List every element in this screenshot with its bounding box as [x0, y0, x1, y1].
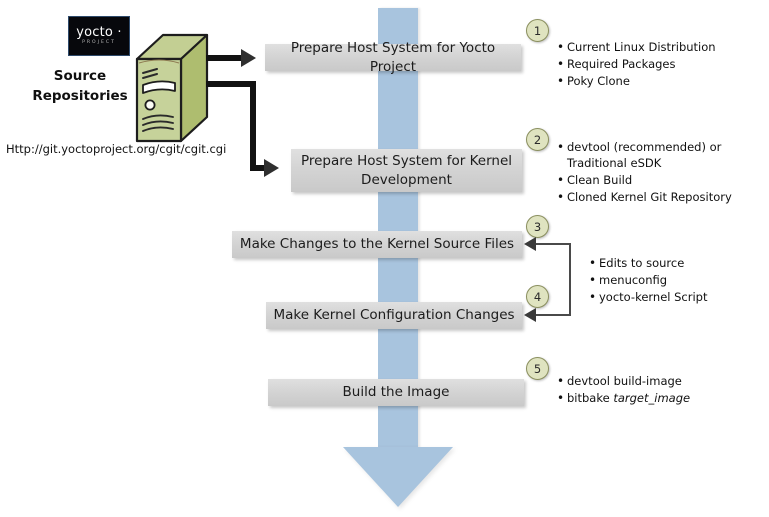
process-box-step2[interactable]: Prepare Host System for Kernel Developme… — [291, 149, 522, 192]
process-box-step2-label: Prepare Host System for Kernel Developme… — [297, 152, 516, 188]
process-box-step1[interactable]: Prepare Host System for Yocto Project — [265, 44, 521, 71]
process-box-step5-label: Build the Image — [343, 383, 450, 401]
connector-server-to-step1-line — [206, 55, 242, 61]
connector-server-to-step2-h1 — [206, 81, 256, 87]
connector-server-to-step2-v — [250, 81, 256, 171]
source-repositories-label: Source Repositories — [18, 66, 142, 107]
step-badge-4-number: 4 — [534, 290, 541, 304]
list-item: Clean Build — [567, 173, 763, 189]
step5-notes: devtool build-image bitbake target_image — [555, 374, 760, 408]
list-item: Poky Clone — [567, 74, 760, 90]
process-box-step4-label: Make Kernel Configuration Changes — [273, 306, 514, 324]
feedback-bracket-bottom-line — [535, 314, 571, 316]
step-badge-5: 5 — [526, 357, 549, 380]
list-item: menuconfig — [599, 273, 762, 289]
bitbake-command-prefix: bitbake — [567, 391, 613, 405]
step-badge-3-number: 3 — [534, 220, 541, 234]
process-box-step4[interactable]: Make Kernel Configuration Changes — [266, 302, 522, 329]
steps34-shared-notes: Edits to source menuconfig yocto-kernel … — [587, 256, 762, 307]
list-item: Edits to source — [599, 256, 762, 272]
step-badge-2: 2 — [526, 128, 549, 151]
list-item: yocto-kernel Script — [599, 290, 762, 306]
yocto-logo-subtext: PROJECT — [82, 41, 116, 46]
feedback-bracket-vertical — [569, 243, 571, 315]
feedback-bracket-top-line — [535, 243, 571, 245]
step2-notes: devtool (recommended) or Traditional eSD… — [555, 140, 763, 206]
source-label-line2: Repositories — [18, 86, 142, 106]
step1-notes: Current Linux Distribution Required Pack… — [555, 40, 760, 91]
list-item: Cloned Kernel Git Repository — [567, 190, 763, 206]
process-box-step3-label: Make Changes to the Kernel Source Files — [240, 235, 514, 253]
feedback-arrowhead-step3 — [524, 237, 536, 251]
list-item: bitbake target_image — [567, 391, 760, 407]
step-badge-1-number: 1 — [534, 24, 541, 38]
step-badge-5-number: 5 — [534, 362, 541, 376]
connector-server-to-step2-arrowhead — [264, 159, 279, 177]
yocto-project-logo: yocto · PROJECT — [68, 16, 130, 56]
process-box-step5[interactable]: Build the Image — [268, 379, 524, 406]
source-label-line1: Source — [18, 66, 142, 86]
bitbake-target-image-arg: target_image — [613, 391, 690, 405]
main-flow-arrow-head — [343, 447, 453, 507]
list-item: devtool build-image — [567, 374, 760, 390]
step-badge-1: 1 — [526, 19, 549, 42]
list-item: Current Linux Distribution — [567, 40, 760, 56]
diagram-canvas: yocto · PROJECT Source Repositories Http… — [0, 0, 769, 517]
step-badge-2-number: 2 — [534, 133, 541, 147]
step-badge-4: 4 — [526, 285, 549, 308]
yocto-logo-text: yocto · — [76, 26, 122, 39]
process-box-step3[interactable]: Make Changes to the Kernel Source Files — [232, 231, 522, 258]
connector-server-to-step1-arrowhead — [241, 49, 256, 67]
list-item: Required Packages — [567, 57, 760, 73]
list-item: devtool (recommended) or Traditional eSD… — [567, 140, 763, 172]
process-box-step1-label: Prepare Host System for Yocto Project — [271, 39, 515, 75]
step-badge-3: 3 — [526, 215, 549, 238]
server-tower-icon — [133, 33, 211, 149]
feedback-arrowhead-step4 — [524, 308, 536, 322]
